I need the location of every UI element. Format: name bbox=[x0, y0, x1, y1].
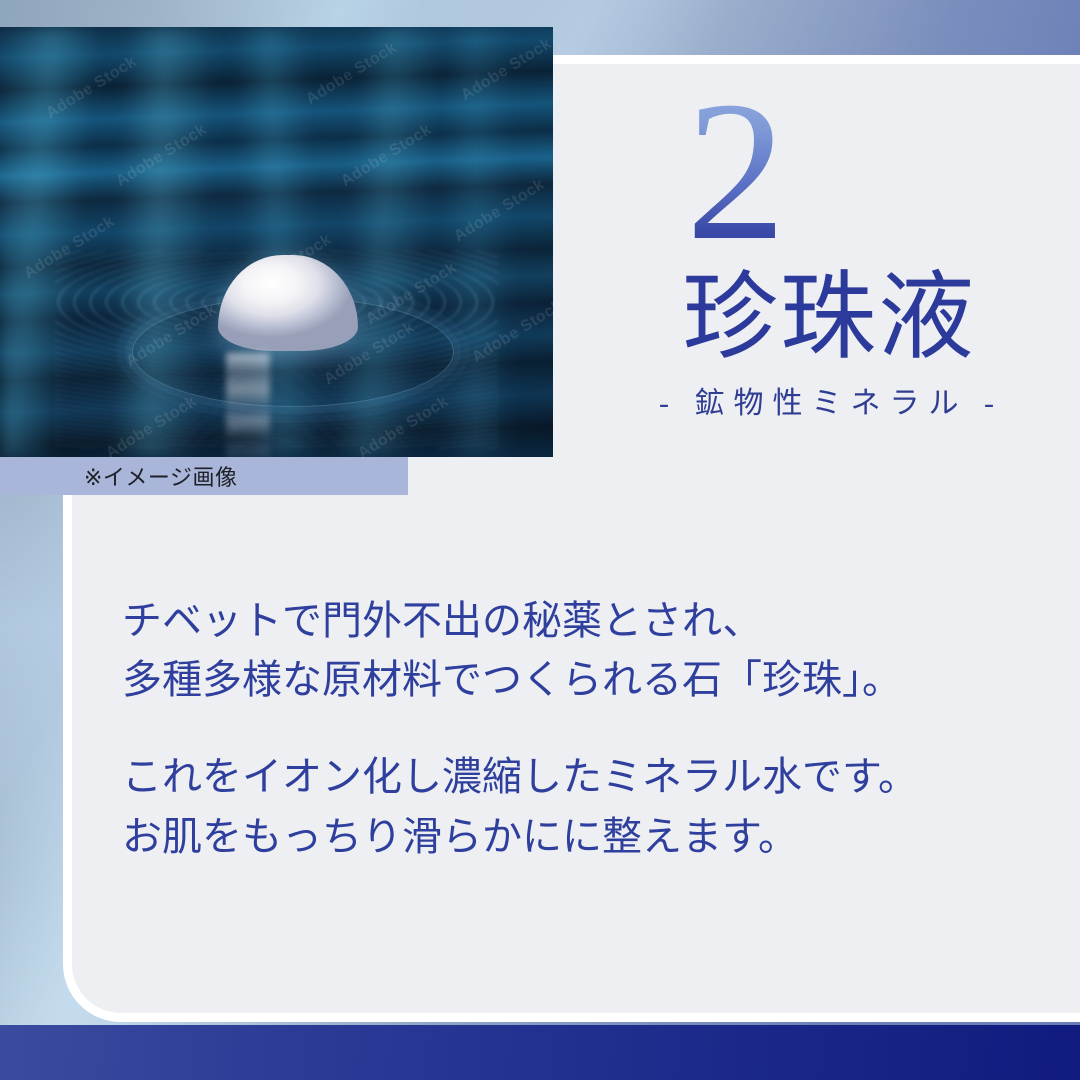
paragraph-line: 多種多様な原材料でつくられる石「珍珠」。 bbox=[122, 651, 1002, 710]
section-number: 2 bbox=[560, 80, 1080, 264]
slide-canvas: Adobe Stock Adobe Stock Adobe Stock Adob… bbox=[0, 0, 1080, 1080]
paragraph-line: チベットで門外不出の秘薬とされ、 bbox=[122, 592, 1002, 651]
header-block: 2 珍珠液 - 鉱物性ミネラル - bbox=[560, 80, 1080, 422]
page-title: 珍珠液 bbox=[560, 270, 1080, 366]
paragraph-line: お肌をもっちり滑らかにに整えます。 bbox=[122, 808, 1002, 867]
body-copy: チベットで門外不出の秘薬とされ、 多種多様な原材料でつくられる石「珍珠」。 これ… bbox=[122, 592, 1002, 867]
paragraph: これをイオン化し濃縮したミネラル水です。 お肌をもっちり滑らかにに整えます。 bbox=[122, 748, 1002, 866]
hero-photo: Adobe Stock Adobe Stock Adobe Stock Adob… bbox=[0, 27, 553, 457]
paragraph-line: これをイオン化し濃縮したミネラル水です。 bbox=[122, 748, 1002, 807]
paragraph: チベットで門外不出の秘薬とされ、 多種多様な原材料でつくられる石「珍珠」。 bbox=[122, 592, 1002, 710]
photo-caption: ※イメージ画像 bbox=[84, 457, 238, 495]
pearl-reflection bbox=[226, 353, 270, 457]
bottom-accent-bar bbox=[0, 1025, 1080, 1080]
page-subtitle: - 鉱物性ミネラル - bbox=[560, 378, 1080, 422]
